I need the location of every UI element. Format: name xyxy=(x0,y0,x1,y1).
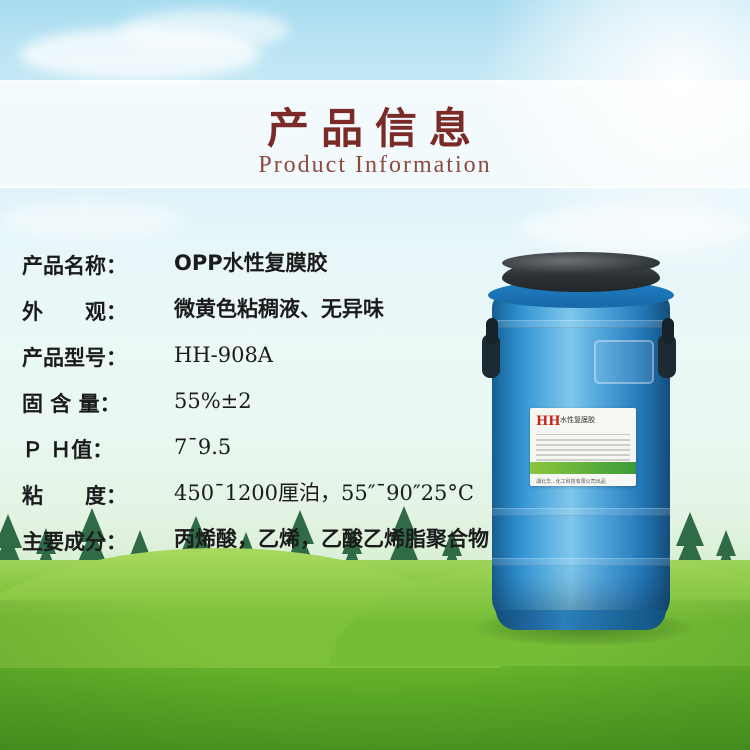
label-footer: 湖北华...化工科技有限公司出品 xyxy=(536,478,606,485)
spec-row: 固 含 量： 55%±2 xyxy=(22,388,492,418)
brand-logo-icon: HH xyxy=(536,414,556,430)
page-title-cn: 产品信息 xyxy=(0,95,750,156)
spec-value: HH-908A xyxy=(174,342,492,369)
spec-row: 产品名称： OPP水性复膜胶 xyxy=(22,250,492,280)
label-divider xyxy=(536,434,630,435)
cloud-icon xyxy=(520,205,750,251)
product-label: HH 水性复膜胶 湖北华...化工科技有限公司出品 xyxy=(530,408,636,486)
label-green-band xyxy=(530,462,636,474)
spec-value: OPP水性复膜胶 xyxy=(174,250,492,277)
spec-value: 微黄色粘稠液、无异味 xyxy=(174,296,492,323)
spec-row: 粘 度： 450¯1200厘泊，55″¯90″25°C xyxy=(22,480,492,510)
header-divider-top xyxy=(0,80,750,82)
barrel-lid-top xyxy=(502,252,660,274)
product-barrel-image: HH 水性复膜胶 湖北华...化工科技有限公司出品 xyxy=(466,258,701,658)
cloud-icon xyxy=(120,10,290,50)
barrel-emboss-panel xyxy=(594,340,654,384)
barrel-ridge xyxy=(492,558,670,566)
cloud-icon xyxy=(0,200,180,240)
spec-list: 产品名称： OPP水性复膜胶 外 观： 微黄色粘稠液、无异味 产品型号： HH-… xyxy=(22,250,492,572)
spec-row: 外 观： 微黄色粘稠液、无异味 xyxy=(22,296,492,326)
spec-value: 55%±2 xyxy=(174,388,492,415)
barrel-base xyxy=(496,610,666,630)
spec-label: Ｐ Ｈ值： xyxy=(22,434,174,464)
spec-label: 粘 度： xyxy=(22,480,174,510)
spec-label: 固 含 量： xyxy=(22,388,174,418)
spec-label: 外 观： xyxy=(22,296,174,326)
spec-row: Ｐ Ｈ值： 7¯9.5 xyxy=(22,434,492,464)
barrel-grip-left xyxy=(486,318,498,344)
spec-label: 产品名称： xyxy=(22,250,174,280)
spec-row: 主要成分： 丙烯酸，乙烯，乙酸乙烯脂聚合物 xyxy=(22,526,492,556)
label-text-lines xyxy=(536,439,630,464)
spec-value: 450¯1200厘泊，55″¯90″25°C xyxy=(174,480,492,507)
spec-label: 主要成分： xyxy=(22,526,174,556)
barrel-ridge xyxy=(492,508,670,516)
label-title: 水性复膜胶 xyxy=(560,415,595,425)
spec-value: 7¯9.5 xyxy=(174,434,492,461)
barrel-grip-right xyxy=(662,318,674,344)
page-title-en: Product Information xyxy=(0,152,750,179)
spec-label: 产品型号： xyxy=(22,342,174,372)
barrel-ridge xyxy=(492,320,670,328)
header-divider-bottom xyxy=(0,186,750,188)
spec-value: 丙烯酸，乙烯，乙酸乙烯脂聚合物 xyxy=(174,526,492,553)
spec-row: 产品型号： HH-908A xyxy=(22,342,492,372)
product-info-banner: 产品信息 Product Information 产品名称： OPP水性复膜胶 … xyxy=(0,0,750,750)
